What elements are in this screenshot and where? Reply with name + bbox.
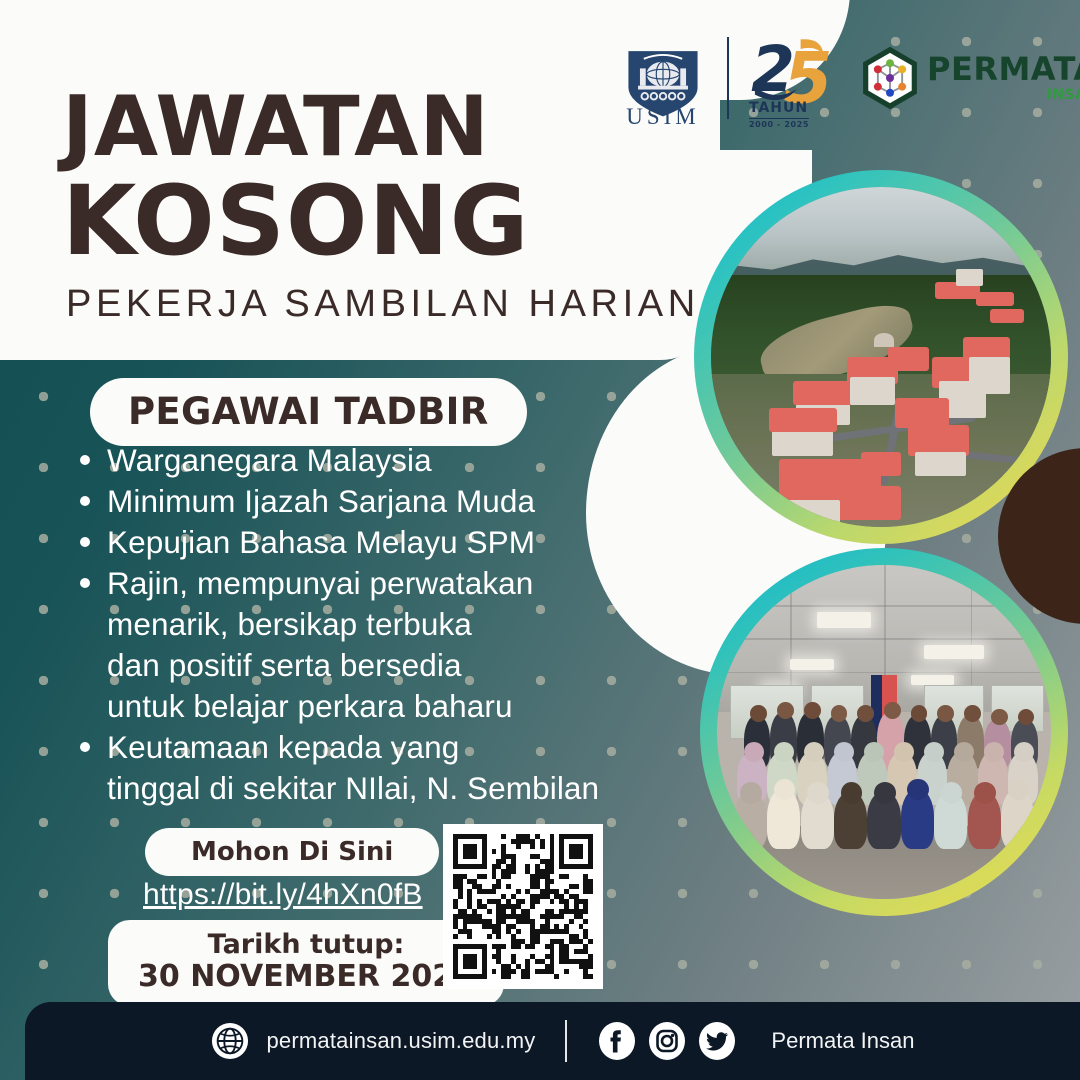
- title-line-2: KOSONG: [62, 173, 700, 269]
- instagram-icon[interactable]: [647, 1021, 687, 1061]
- social-handle: Permata Insan: [771, 1028, 914, 1054]
- requirement-text: Warganegara Malaysia: [107, 440, 432, 481]
- usim-wordmark: USIM: [615, 104, 711, 130]
- apply-button-label: Mohon Di Sini: [191, 837, 393, 867]
- apply-button[interactable]: Mohon Di Sini: [145, 828, 439, 876]
- job-title-text: PEGAWAI TADBIR: [128, 390, 489, 433]
- title-line-1: JAWATAN: [62, 88, 700, 167]
- globe-icon: [211, 1022, 249, 1060]
- list-item: Keutamaan kepada yang tinggal di sekitar…: [76, 727, 656, 809]
- qr-code-grid: [453, 834, 593, 979]
- apply-url-link[interactable]: https://bit.ly/4hXn0fB: [143, 878, 423, 912]
- job-title-badge: PEGAWAI TADBIR: [90, 378, 527, 446]
- requirements-list: Warganegara Malaysia Minimum Ijazah Sarj…: [76, 440, 656, 808]
- insan-wordmark: INSAN: [927, 87, 1080, 103]
- permata-insan-logo: PERMATA INSAN: [859, 45, 1080, 111]
- anniversary-logo: 2 5 TAHUN 2000 - 2025: [745, 28, 841, 128]
- deadline-date: 30 NOVEMBER 2025: [138, 960, 474, 994]
- bullet-icon: [80, 578, 90, 588]
- deadline-label: Tarikh tutup:: [138, 930, 474, 960]
- facebook-icon[interactable]: [597, 1021, 637, 1061]
- list-item: Warganegara Malaysia: [76, 440, 656, 481]
- requirement-text: Minimum Ijazah Sarjana Muda: [107, 481, 535, 522]
- requirement-text: Rajin, mempunyai perwatakan menarik, ber…: [107, 563, 533, 727]
- anniversary-word: TAHUN: [749, 100, 808, 116]
- list-item: Kepujian Bahasa Melayu SPM: [76, 522, 656, 563]
- list-item: Rajin, mempunyai perwatakan menarik, ber…: [76, 563, 656, 727]
- footer-bar: permatainsan.usim.edu.my Per: [25, 1002, 1080, 1080]
- usim-logo: USIM: [615, 30, 711, 126]
- footer-divider: [565, 1020, 567, 1062]
- staff-photo-ring: [700, 548, 1068, 916]
- qr-code[interactable]: [443, 824, 603, 989]
- website-url[interactable]: permatainsan.usim.edu.my: [267, 1028, 536, 1054]
- bullet-icon: [80, 537, 90, 547]
- poster-root: USIM 2 5 TAHUN 2000 - 2025: [0, 0, 1080, 1080]
- list-item: Minimum Ijazah Sarjana Muda: [76, 481, 656, 522]
- title-subtitle: PEKERJA SAMBILAN HARIAN: [66, 283, 700, 326]
- bullet-icon: [80, 455, 90, 465]
- permata-wordmark: PERMATA: [927, 53, 1080, 85]
- social-icons: [597, 1021, 737, 1061]
- permata-hexagon-icon: [859, 45, 921, 111]
- logo-divider: [727, 37, 729, 119]
- logo-group: USIM 2 5 TAHUN 2000 - 2025: [615, 28, 1080, 128]
- campus-photo: [711, 187, 1051, 527]
- requirement-text: Keutamaan kepada yang tinggal di sekitar…: [107, 727, 599, 809]
- requirement-text: Kepujian Bahasa Melayu SPM: [107, 522, 535, 563]
- staff-group-photo: [717, 565, 1051, 899]
- title-block: JAWATAN KOSONG PEKERJA SAMBILAN HARIAN: [62, 88, 700, 326]
- bullet-icon: [80, 742, 90, 752]
- twitter-icon[interactable]: [697, 1021, 737, 1061]
- bullet-icon: [80, 496, 90, 506]
- anniversary-years: 2000 - 2025: [749, 118, 809, 129]
